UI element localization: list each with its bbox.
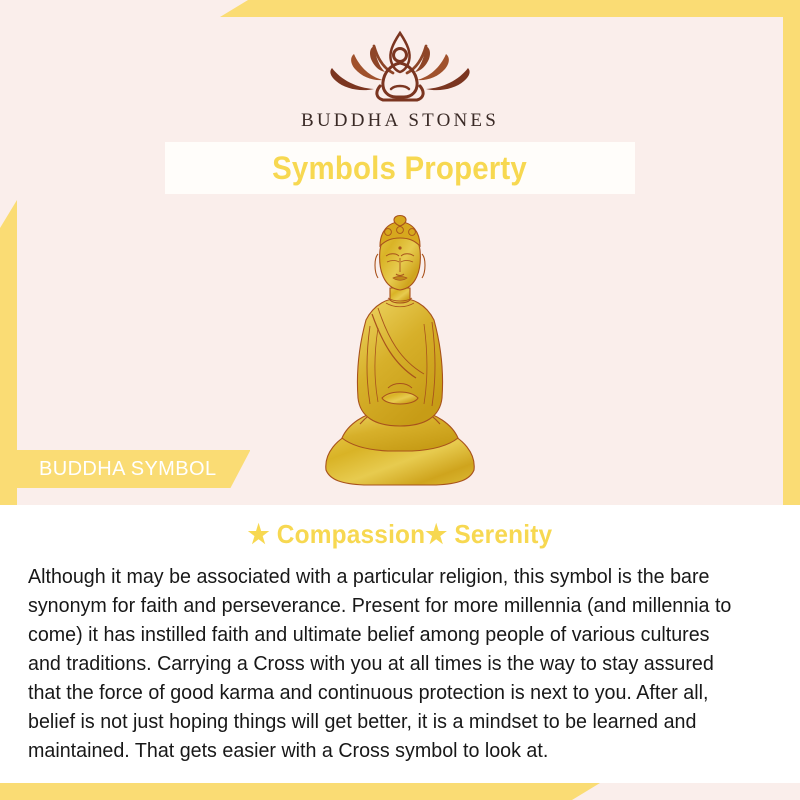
brand-name: BUDDHA STONES	[301, 110, 499, 132]
title-banner: Symbols Property	[165, 142, 635, 194]
symbol-category-ribbon: BUDDHA SYMBOL	[17, 450, 250, 488]
decorative-bottom-bar	[0, 783, 600, 800]
page-title: Symbols Property	[273, 150, 528, 187]
description-body: Although it may be associated with a par…	[28, 562, 742, 765]
seated-golden-buddha-statue-icon	[320, 202, 480, 496]
symbol-category-label: BUDDHA SYMBOL	[39, 458, 216, 481]
attributes-heading: ★ Compassion★ Serenity	[50, 519, 749, 550]
description-panel: ★ Compassion★ Serenity Although it may b…	[0, 505, 800, 783]
lotus-meditation-figure-icon	[315, 22, 485, 104]
brand-header: BUDDHA STONES	[0, 0, 800, 142]
poster-page: BUDDHA STONES Symbols Property	[0, 0, 800, 800]
